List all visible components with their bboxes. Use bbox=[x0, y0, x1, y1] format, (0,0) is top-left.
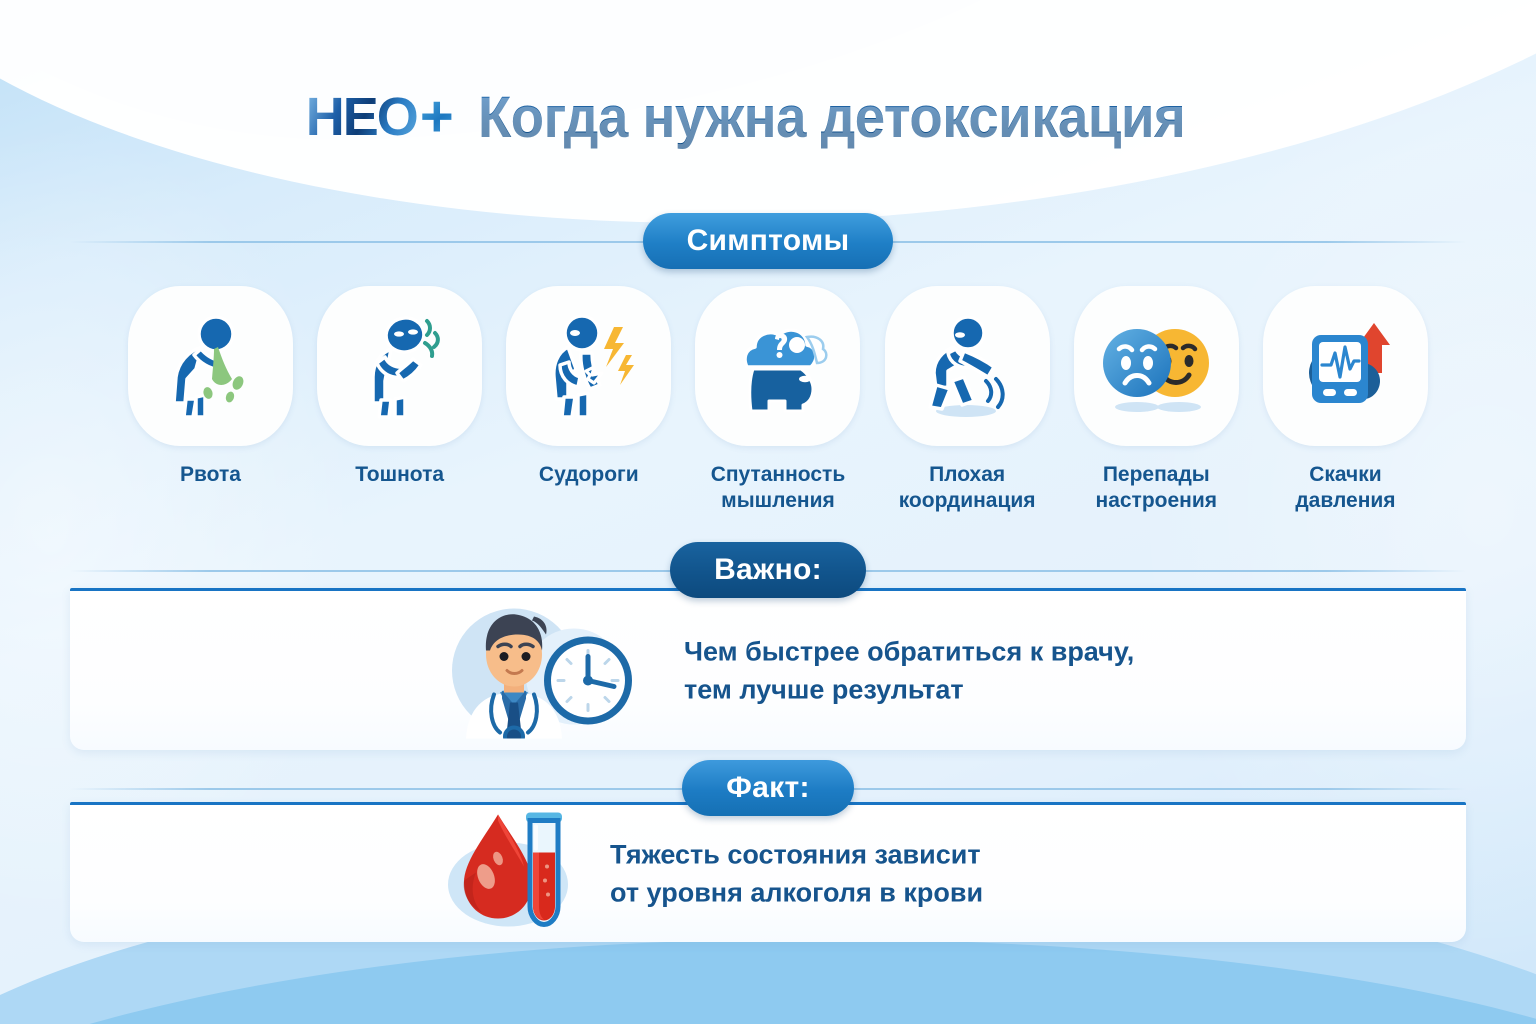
symptom-label: Плохая координация bbox=[899, 462, 1036, 513]
nausea-icon bbox=[341, 307, 459, 425]
header: НЕО + Когда нужна детоксикация bbox=[0, 72, 1536, 162]
symptom-label-line1: Скачки bbox=[1309, 463, 1381, 486]
symptom-label: Судороги bbox=[539, 462, 639, 488]
symptom-label: Перепады настроения bbox=[1096, 462, 1218, 513]
symptom-item-vomiting[interactable]: Рвота bbox=[128, 286, 293, 513]
important-text: Чем быстрее обратиться к врачу, тем лучш… bbox=[684, 632, 1134, 709]
symptom-item-blood-pressure[interactable]: Скачки давления bbox=[1263, 286, 1428, 513]
brand-logo: НЕО + bbox=[306, 88, 452, 146]
important-panel: Чем быстрее обратиться к врачу, тем лучш… bbox=[70, 588, 1466, 750]
confusion-icon bbox=[719, 307, 837, 425]
symptom-label: Спутанность мышления bbox=[711, 462, 846, 513]
symptom-card bbox=[695, 286, 860, 446]
mood-swings-icon bbox=[1093, 307, 1219, 425]
fact-panel: Тяжесть состояния зависит от уровня алко… bbox=[70, 802, 1466, 942]
symptom-label: Скачки давления bbox=[1295, 462, 1395, 513]
symptom-item-nausea[interactable]: Тошнота bbox=[317, 286, 482, 513]
brand-logo-text: НЕО bbox=[306, 90, 417, 144]
vomiting-icon bbox=[152, 307, 270, 425]
important-section-heading: Важно: bbox=[70, 542, 1466, 598]
symptom-label: Тошнота bbox=[355, 462, 444, 488]
symptom-label-line2: мышления bbox=[721, 489, 835, 512]
symptom-label-line1: Спутанность bbox=[711, 463, 846, 486]
symptom-item-confusion[interactable]: Спутанность мышления bbox=[695, 286, 860, 513]
important-text-line2: тем лучше результат bbox=[684, 671, 1134, 709]
bad-coordination-icon bbox=[908, 307, 1026, 425]
symptom-card bbox=[1263, 286, 1428, 446]
fact-text-line2: от уровня алкоголя в крови bbox=[610, 874, 983, 912]
fact-text: Тяжесть состояния зависит от уровня алко… bbox=[610, 835, 983, 912]
symptoms-section-heading: Симптомы bbox=[70, 212, 1466, 270]
blood-test-svg bbox=[446, 806, 596, 936]
infographic-page: НЕО + Когда нужна детоксикация Симптомы bbox=[0, 0, 1536, 1024]
symptom-card bbox=[128, 286, 293, 446]
page-title: Когда нужна детоксикация bbox=[478, 84, 1185, 151]
doctor-with-clock-illustration bbox=[442, 598, 652, 743]
symptom-card bbox=[885, 286, 1050, 446]
cramps-icon bbox=[530, 307, 648, 425]
fact-section-heading: Факт: bbox=[70, 760, 1466, 816]
symptom-label-line2: давления bbox=[1295, 489, 1395, 512]
symptom-item-bad-coordination[interactable]: Плохая координация bbox=[885, 286, 1050, 513]
symptoms-badge: Симптомы bbox=[643, 213, 894, 269]
doctor-clock-svg bbox=[442, 598, 652, 738]
symptom-item-cramps[interactable]: Судороги bbox=[506, 286, 671, 513]
blood-drop-and-test-tube-illustration bbox=[446, 806, 596, 941]
brand-logo-plus-icon: + bbox=[420, 88, 452, 146]
symptom-item-mood-swings[interactable]: Перепады настроения bbox=[1074, 286, 1239, 513]
important-text-line1: Чем быстрее обратиться к врачу, bbox=[684, 632, 1134, 670]
fact-text-line1: Тяжесть состояния зависит bbox=[610, 835, 983, 873]
symptom-label-line1: Перепады bbox=[1103, 463, 1210, 486]
symptom-label-line2: координация bbox=[899, 489, 1036, 512]
symptom-label-line1: Плохая bbox=[929, 463, 1005, 486]
symptom-card bbox=[1074, 286, 1239, 446]
symptom-card bbox=[506, 286, 671, 446]
symptoms-list: Рвота bbox=[128, 286, 1428, 513]
fact-badge: Факт: bbox=[682, 760, 854, 816]
important-badge: Важно: bbox=[670, 542, 866, 598]
symptom-label-line2: настроения bbox=[1096, 489, 1218, 512]
blood-pressure-icon bbox=[1286, 307, 1404, 425]
symptom-label: Рвота bbox=[180, 462, 241, 488]
symptom-card bbox=[317, 286, 482, 446]
